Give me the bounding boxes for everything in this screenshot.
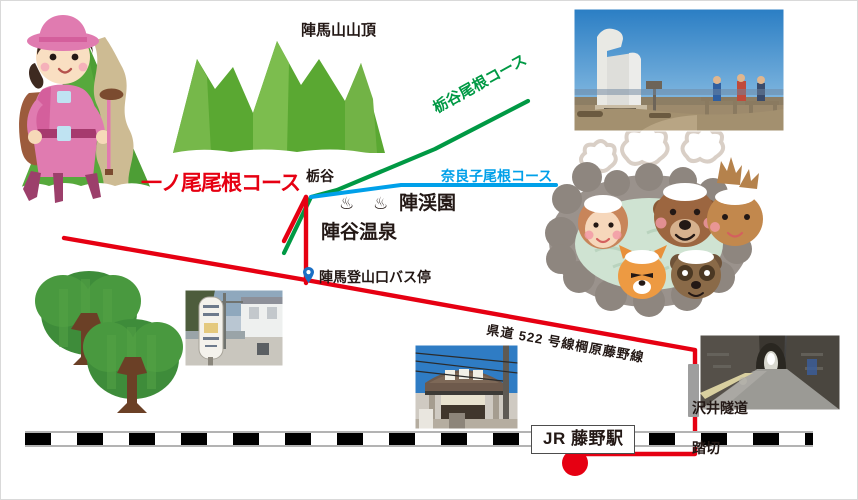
onsen-icon-2: ♨ — [373, 195, 388, 212]
route-endpoint-marker — [562, 450, 588, 476]
onsen-animals-illustration — [545, 126, 763, 317]
photo-station — [415, 345, 518, 429]
label-bus-stop: 陣馬登山口バス停 — [319, 270, 431, 284]
map-vector-layer — [1, 1, 858, 500]
onsen-icon-1: ♨ — [339, 195, 354, 212]
label-course-ichinoo: 一ノ尾尾根コース — [141, 173, 300, 194]
route-map: 陣馬山山頂 栃谷 一ノ尾尾根コース 栃谷尾根コース 奈良子尾根コース 陣渓園 陣… — [0, 0, 858, 500]
photo-bus-stop — [185, 290, 283, 366]
hiker-illustration — [19, 15, 151, 203]
mountains-illustration — [173, 41, 385, 157]
label-jinya-onsen: 陣谷温泉 — [321, 223, 397, 242]
label-tochiya: 栃谷 — [306, 169, 334, 183]
map-pin-icon — [303, 267, 314, 283]
photo-summit — [574, 9, 784, 131]
trees-illustration — [35, 271, 183, 413]
label-tunnel: 沢井隧道 — [692, 401, 748, 415]
label-course-naraco: 奈良子尾根コース — [441, 169, 552, 183]
label-summit: 陣馬山山頂 — [301, 23, 376, 38]
label-station: JR 藤野駅 — [531, 425, 635, 454]
photo-tunnel — [700, 333, 840, 410]
label-jinkeien: 陣渓園 — [399, 194, 456, 213]
label-crossing: 踏切 — [692, 441, 720, 455]
